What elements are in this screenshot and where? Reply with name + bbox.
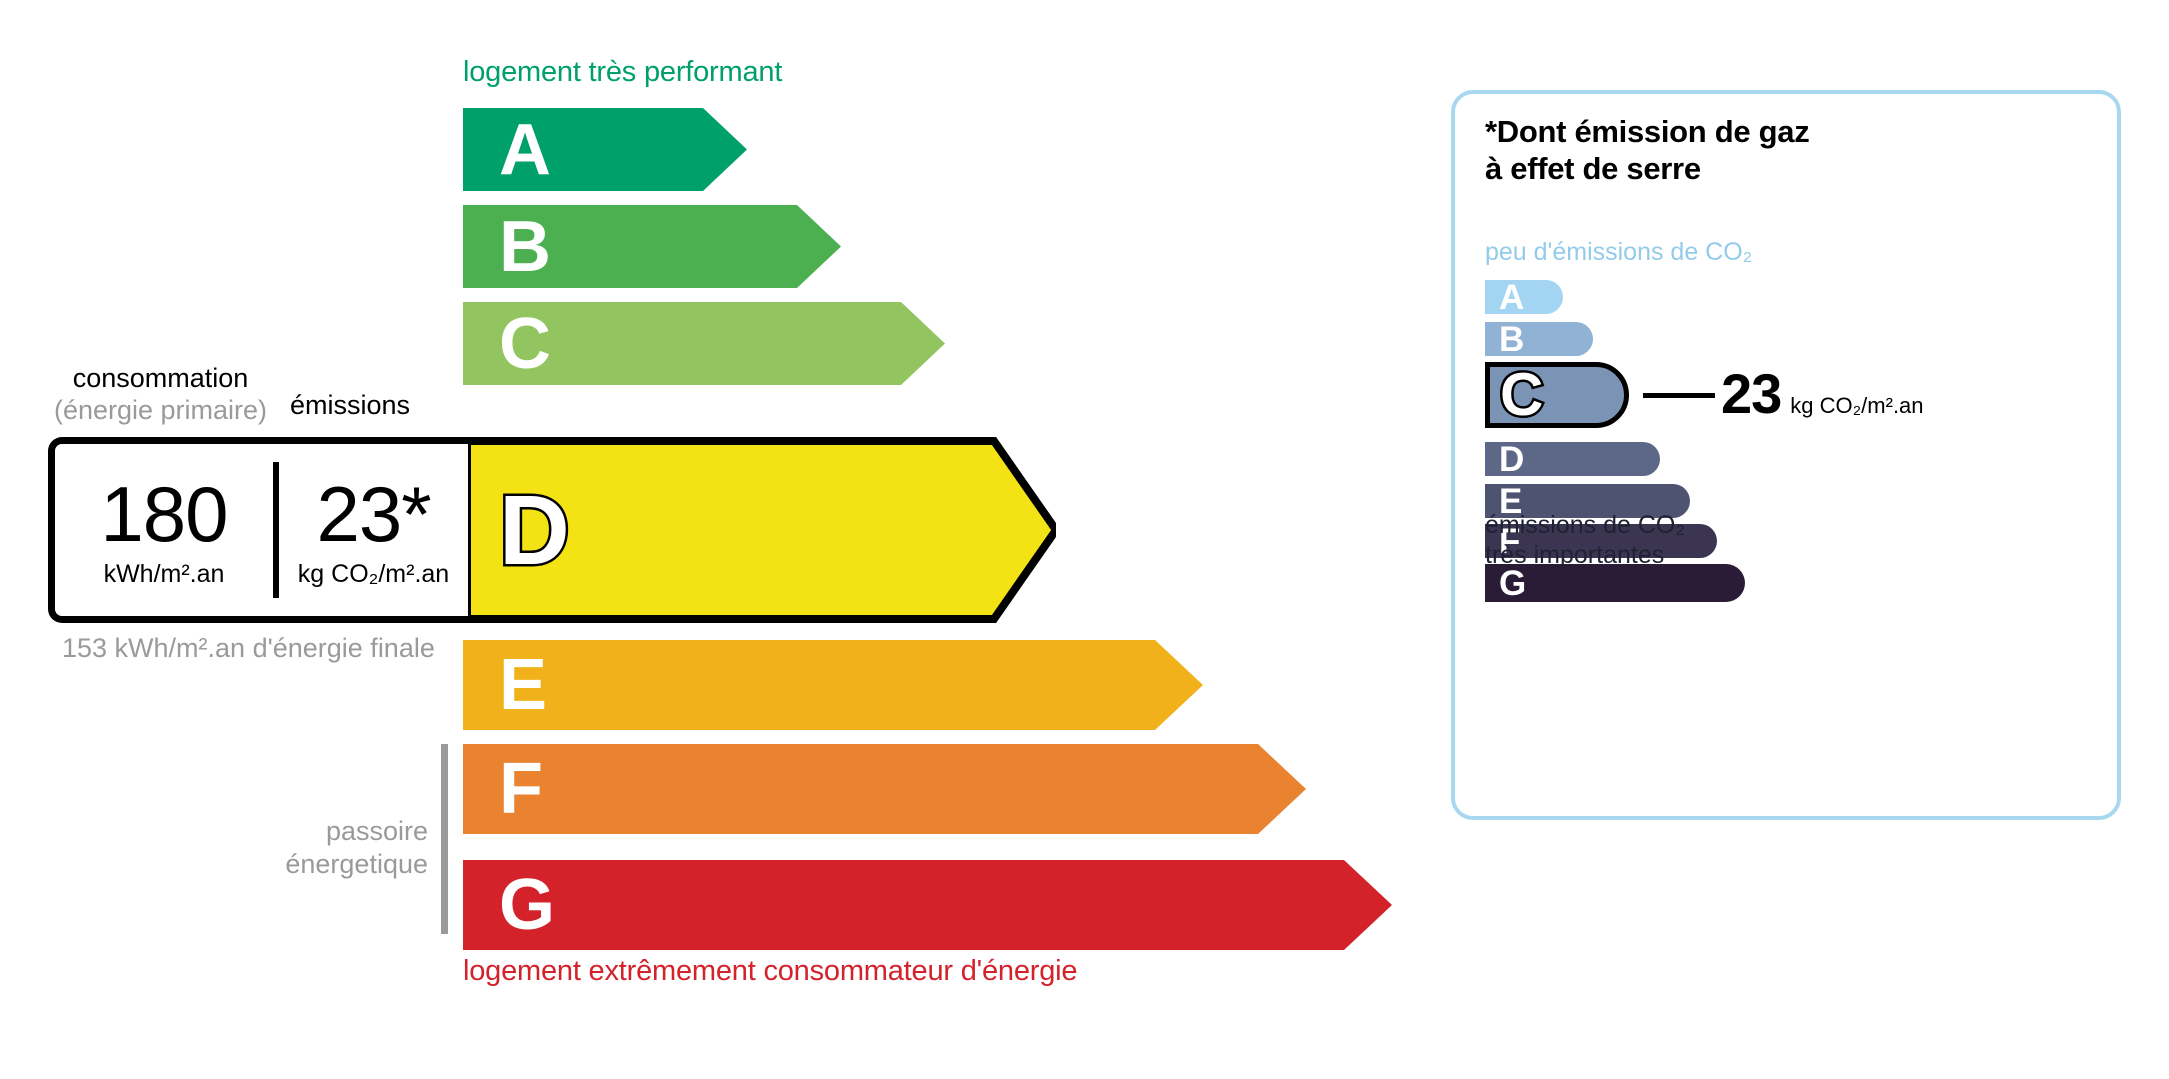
emission-value: 23*	[316, 477, 430, 551]
energy-arrow-letter: C	[499, 308, 551, 380]
co2-leader-line	[1643, 393, 1715, 398]
energy-arrow-b: B	[463, 205, 841, 288]
energy-arrow-g: G	[463, 860, 1392, 950]
co2-bar-shape: D	[1485, 442, 1660, 476]
energy-arrow-shape: G	[463, 860, 1392, 950]
energy-arrow-d: D	[463, 437, 1056, 623]
co2-bar-c: C	[1485, 362, 1629, 428]
energy-bottom-caption: logement extrêmement consommateur d'éner…	[463, 955, 1077, 988]
consumption-header-main: consommation	[73, 363, 249, 393]
emission-unit: kg CO₂/m².an	[298, 560, 449, 589]
co2-value-number: 23	[1721, 361, 1781, 426]
consumption-header: consommation (énergie primaire)	[48, 363, 273, 427]
emission-cell: 23* kg CO₂/m².an	[279, 444, 468, 616]
co2-bar-b: B	[1485, 322, 1593, 356]
consumption-value: 180	[100, 477, 227, 551]
energy-arrow-shape: E	[463, 640, 1203, 730]
energy-arrow-f: F	[463, 744, 1306, 834]
energy-arrow-e: E	[463, 640, 1203, 730]
energy-arrow-a: A	[463, 108, 747, 191]
energy-arrow-letter: B	[499, 211, 551, 283]
passoire-bracket	[441, 744, 448, 934]
co2-value-readout: 23 kg CO₂/m².an	[1721, 361, 1924, 426]
co2-bar-letter: G	[1499, 566, 1526, 601]
co2-bar-shape: C	[1485, 362, 1629, 428]
energy-arrow-letter: A	[499, 114, 551, 186]
energy-arrow-shape: F	[463, 744, 1306, 834]
co2-bar-letter: D	[1499, 442, 1524, 477]
co2-title: *Dont émission de gaz à effet de serre	[1485, 114, 1809, 187]
dpe-diagram: logement très performant ABCDEFG logemen…	[0, 0, 2169, 1079]
co2-bar-shape: A	[1485, 280, 1563, 314]
co2-bar-shape: B	[1485, 322, 1593, 356]
consumption-cell: 180 kWh/m².an	[55, 444, 273, 616]
energy-arrow-letter: F	[499, 753, 543, 825]
co2-bar-d: D	[1485, 442, 1660, 476]
energy-scale-panel: logement très performant ABCDEFG logemen…	[0, 0, 1380, 1079]
energy-arrow-letter: D	[499, 481, 570, 579]
co2-bar-a: A	[1485, 280, 1563, 314]
value-box: 180 kWh/m².an 23* kg CO₂/m².an	[48, 437, 468, 623]
energy-arrow-shape: C	[463, 302, 945, 385]
co2-bar-letter: B	[1499, 322, 1524, 357]
co2-panel: *Dont émission de gaz à effet de serre p…	[1451, 90, 2121, 820]
final-energy-note: 153 kWh/m².an d'énergie finale	[62, 632, 435, 665]
consumption-unit: kWh/m².an	[104, 560, 225, 589]
energy-arrow-shape: D	[463, 437, 1056, 623]
co2-top-caption: peu d'émissions de CO₂	[1485, 238, 1752, 267]
energy-arrow-letter: E	[499, 649, 547, 721]
co2-bottom-caption: émissions de CO₂ très importantes	[1485, 510, 1685, 570]
energy-arrow-c: C	[463, 302, 945, 385]
energy-arrow-letter: G	[499, 869, 555, 941]
emissions-header: émissions	[290, 390, 410, 421]
energy-top-caption: logement très performant	[463, 56, 782, 89]
co2-bar-letter: A	[1499, 280, 1524, 315]
energy-arrow-shape: A	[463, 108, 747, 191]
co2-bar-letter: C	[1500, 365, 1543, 425]
energy-arrow-shape: B	[463, 205, 841, 288]
consumption-header-sub: (énergie primaire)	[48, 395, 273, 427]
co2-value-unit: kg CO₂/m².an	[1790, 393, 1923, 419]
passoire-label: passoire énergetique	[240, 815, 428, 881]
